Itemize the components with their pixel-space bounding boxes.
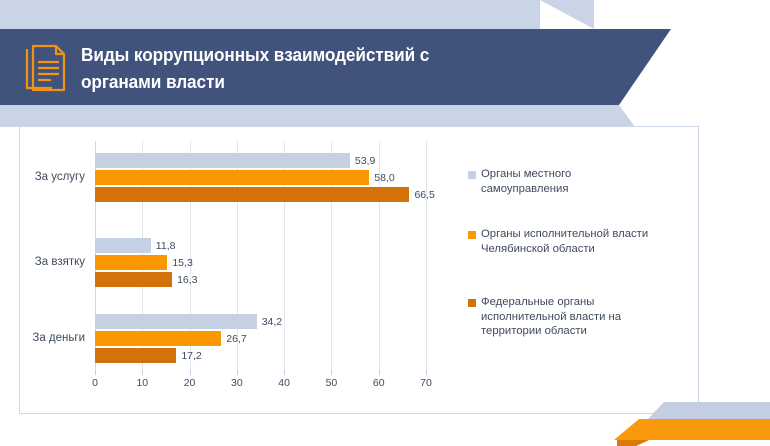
top-band-notch	[540, 0, 594, 29]
gridline	[426, 141, 427, 370]
category-label: За деньги	[0, 332, 85, 344]
bar-row: 26,7	[95, 331, 426, 346]
bottom-orange-shadow	[617, 440, 649, 446]
bar[interactable]	[95, 348, 176, 363]
x-tick-label: 10	[122, 377, 162, 389]
page-title: Виды коррупционных взаимодействий с орга…	[81, 41, 527, 95]
legend-item[interactable]: Федеральные органы исполнительной власти…	[468, 295, 621, 339]
tick-mark	[379, 370, 380, 375]
bar-row: 17,2	[95, 348, 426, 363]
header-bottom-band-tail	[619, 105, 635, 127]
bottom-blue-shape	[648, 402, 770, 419]
legend-item[interactable]: Органы местного самоуправления	[468, 167, 571, 196]
bar[interactable]	[95, 255, 167, 270]
tick-mark	[95, 370, 96, 375]
bar-row: 58,0	[95, 170, 426, 185]
tick-mark	[190, 370, 191, 375]
bar-row: 53,9	[95, 153, 426, 168]
tick-mark	[142, 370, 143, 375]
tick-mark	[426, 370, 427, 375]
x-tick-label: 70	[406, 377, 446, 389]
bar-value-label: 16,3	[172, 274, 197, 286]
x-tick-label: 0	[75, 377, 115, 389]
tick-mark	[284, 370, 285, 375]
bar[interactable]	[95, 331, 221, 346]
x-tick-label: 30	[217, 377, 257, 389]
bar-value-label: 34,2	[257, 316, 282, 328]
bar-value-label: 15,3	[167, 257, 192, 269]
chart-card: 010203040506070 53,958,066,5За услугу11,…	[19, 126, 699, 414]
bar-value-label: 26,7	[221, 333, 246, 345]
bar-group: 11,815,316,3За взятку	[95, 238, 426, 287]
bar[interactable]	[95, 153, 350, 168]
legend-item[interactable]: Органы исполнительной власти Челябинской…	[468, 227, 648, 256]
tick-mark	[331, 370, 332, 375]
legend-label: Федеральные органы исполнительной власти…	[481, 295, 621, 339]
x-tick-label: 20	[170, 377, 210, 389]
bottom-orange-shape	[614, 419, 770, 440]
category-label: За услугу	[0, 171, 85, 183]
chart-plot-area: 010203040506070 53,958,066,5За услугу11,…	[95, 141, 426, 370]
tick-mark	[237, 370, 238, 375]
legend-swatch	[468, 171, 476, 179]
header-bottom-band	[0, 105, 619, 127]
legend-label: Органы исполнительной власти Челябинской…	[481, 227, 648, 256]
bar-row: 66,5	[95, 187, 426, 202]
legend-label: Органы местного самоуправления	[481, 167, 571, 196]
bar-row: 15,3	[95, 255, 426, 270]
x-tick-label: 50	[311, 377, 351, 389]
legend-swatch	[468, 231, 476, 239]
legend-swatch	[468, 299, 476, 307]
category-label: За взятку	[0, 256, 85, 268]
bar[interactable]	[95, 187, 409, 202]
bar-value-label: 53,9	[350, 155, 375, 167]
bar-value-label: 11,8	[151, 240, 176, 252]
bar-value-label: 17,2	[176, 350, 201, 362]
bar-row: 34,2	[95, 314, 426, 329]
top-band-right-fill	[594, 0, 770, 29]
x-tick-label: 40	[264, 377, 304, 389]
bar-group: 34,226,717,2За деньги	[95, 314, 426, 363]
bar-group: 53,958,066,5За услугу	[95, 153, 426, 202]
bar-row: 11,8	[95, 238, 426, 253]
bar-value-label: 66,5	[409, 189, 434, 201]
bar-row: 16,3	[95, 272, 426, 287]
bar[interactable]	[95, 314, 257, 329]
bar[interactable]	[95, 272, 172, 287]
bar[interactable]	[95, 170, 369, 185]
bar[interactable]	[95, 238, 151, 253]
bar-value-label: 58,0	[369, 172, 394, 184]
x-tick-label: 60	[359, 377, 399, 389]
header-ribbon-tail	[619, 29, 671, 105]
document-icon	[24, 43, 68, 93]
